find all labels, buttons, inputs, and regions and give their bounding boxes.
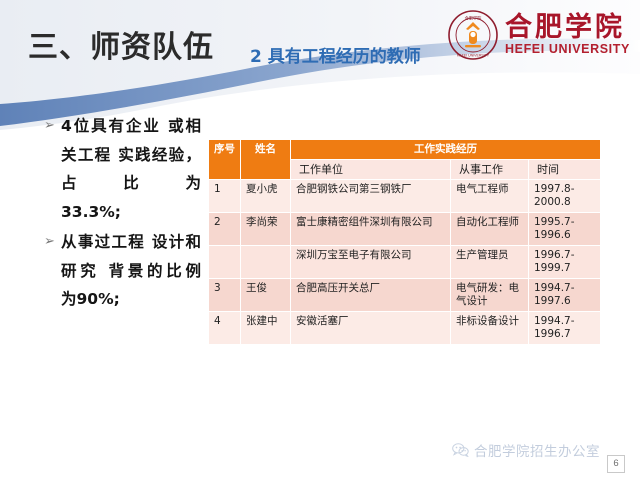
svg-text:HEFEI UNIVERSITY: HEFEI UNIVERSITY (457, 54, 490, 58)
bullet-item-2: ➢ 从事过工程 设计和研究 背景的比例 为90%; (44, 228, 204, 314)
header-cell-job: 从事工作 (451, 160, 529, 180)
work-experience-table: 序号 姓名 工作实践经历 工作单位 从事工作 时间 1 夏小虎 合肥钢铁公司第三… (208, 139, 601, 345)
bullet-item-2-text: 从事过工程 设计和研究 背景的比例 为90%; (61, 228, 201, 314)
header-cell-group: 工作实践经历 (291, 140, 601, 160)
cell-name (241, 246, 291, 279)
slide-canvas: 三、师资队伍 2 具有工程经历的教师 合肥学院 HEFEI UNIVERSITY… (0, 0, 640, 480)
watermark-text: 合肥学院招生办公室 (474, 440, 600, 460)
cell-index: 3 (209, 279, 241, 312)
cell-name: 夏小虎 (241, 180, 291, 213)
cell-index (209, 246, 241, 279)
cell-job: 非标设备设计 (451, 312, 529, 345)
table-row: 4 张建中 安徽活塞厂 非标设备设计 1994.7-1996.7 (209, 312, 601, 345)
cell-name: 王俊 (241, 279, 291, 312)
cell-job: 生产管理员 (451, 246, 529, 279)
wechat-icon (452, 443, 469, 457)
table-row: 1 夏小虎 合肥钢铁公司第三钢铁厂 电气工程师 1997.8-2000.8 (209, 180, 601, 213)
cell-index: 2 (209, 213, 241, 246)
cell-index: 4 (209, 312, 241, 345)
cell-time: 1997.8-2000.8 (529, 180, 601, 213)
header-cell-time: 时间 (529, 160, 601, 180)
cell-job: 电气工程师 (451, 180, 529, 213)
bullet-line: 占 比 为 (61, 174, 201, 192)
table-row: 深圳万宝至电子有限公司 生产管理员 1996.7-1999.7 (209, 246, 601, 279)
bullet-item-1-text: 4位具有企业 或相关工程 实践经验， 占 比 为 33.3%; (61, 112, 201, 226)
bullet-item-1: ➢ 4位具有企业 或相关工程 实践经验， 占 比 为 33.3%; (44, 112, 204, 226)
svg-text:合肥学院: 合肥学院 (465, 15, 483, 22)
bullet-list: ➢ 4位具有企业 或相关工程 实践经验， 占 比 为 33.3%; ➢ 从事过工… (44, 112, 204, 316)
page-subtitle: 2 具有工程经历的教师 (250, 42, 421, 67)
arrow-bullet-icon: ➢ (44, 112, 61, 141)
header-cell-name: 姓名 (241, 140, 291, 180)
university-logo: 合肥学院 HEFEI UNIVERSITY 合肥学院 HEFEI UNIVERS… (447, 6, 637, 64)
table-row: 3 王俊 合肥高压开关总厂 电气研发：电气设计 1994.7-1997.6 (209, 279, 601, 312)
bullet-line: 实践经验， (118, 146, 201, 164)
bullet-line: 为90%; (61, 285, 201, 314)
cell-unit: 富士康精密组件深圳有限公司 (291, 213, 451, 246)
arrow-bullet-icon: ➢ (44, 228, 61, 257)
cell-index: 1 (209, 180, 241, 213)
cell-unit: 深圳万宝至电子有限公司 (291, 246, 451, 279)
table-header-row-top: 序号 姓名 工作实践经历 (209, 140, 601, 160)
bullet-line: 33.3%; (61, 198, 201, 227)
cell-time: 1994.7-1996.7 (529, 312, 601, 345)
cell-unit: 合肥钢铁公司第三钢铁厂 (291, 180, 451, 213)
university-seal-icon: 合肥学院 HEFEI UNIVERSITY (447, 9, 499, 61)
cell-name: 张建中 (241, 312, 291, 345)
cell-unit: 合肥高压开关总厂 (291, 279, 451, 312)
table-row: 2 李尚荣 富士康精密组件深圳有限公司 自动化工程师 1995.7-1996.6 (209, 213, 601, 246)
cell-time: 1996.7-1999.7 (529, 246, 601, 279)
page-number-badge: 6 (607, 455, 625, 473)
cell-job: 电气研发：电气设计 (451, 279, 529, 312)
logo-wordmark: 合肥学院 HEFEI UNIVERSITY (505, 14, 630, 56)
cell-time: 1995.7-1996.6 (529, 213, 601, 246)
bullet-line: 从事过工程 (61, 233, 145, 251)
header-cell-index: 序号 (209, 140, 241, 180)
cell-name: 李尚荣 (241, 213, 291, 246)
bullet-line: 背景的比例 (109, 262, 201, 280)
header-cell-unit: 工作单位 (291, 160, 451, 180)
watermark: 合肥学院招生办公室 (452, 440, 600, 460)
logo-english-name: HEFEI UNIVERSITY (505, 43, 630, 56)
page-title: 三、师资队伍 (28, 22, 214, 66)
cell-job: 自动化工程师 (451, 213, 529, 246)
cell-unit: 安徽活塞厂 (291, 312, 451, 345)
cell-time: 1994.7-1997.6 (529, 279, 601, 312)
logo-chinese-name: 合肥学院 (505, 14, 630, 41)
bullet-line: 4位具有企业 (61, 117, 161, 135)
